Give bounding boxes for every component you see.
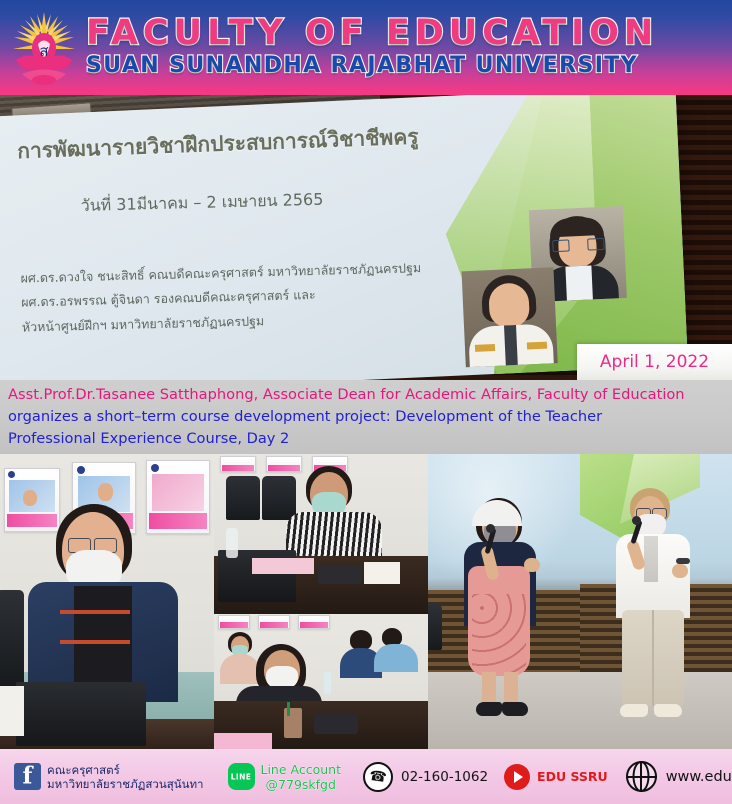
- slide-speakers: ผศ.ดร.ดวงใจ ชนะสิทธิ์ คณบดีคณะครุศาสตร์ …: [20, 253, 522, 339]
- photo-meeting-room-attendees: [214, 614, 428, 749]
- facebook-icon[interactable]: [14, 763, 41, 790]
- header-subtitle: SUAN SUNANDHA RAJABHAT UNIVERSITY: [86, 54, 658, 78]
- wall-poster: [146, 460, 210, 534]
- globe-icon[interactable]: [626, 761, 657, 792]
- slide-title-thai: การพัฒนารายวิชาฝึกประสบการณ์วิชาชีพครู: [17, 117, 518, 168]
- line-label: Line Account @779skfgd: [261, 762, 342, 792]
- phone-glyph: ☎: [368, 767, 388, 785]
- wall-poster: [4, 468, 60, 532]
- projection-screen: การพัฒนารายวิชาฝึกประสบการณ์วิชาชีพครู ว…: [0, 95, 688, 380]
- line-account-id: @779skfgd: [261, 777, 342, 792]
- photo-speaker-pink-dress: [428, 454, 580, 749]
- photo-speaker-white-shirt: [580, 454, 732, 749]
- header-title: FACULTY OF EDUCATION: [86, 15, 658, 52]
- page-footer: คณะครุศาสตร์ มหาวิทยาลัยราชภัฏสวนสุนันทา…: [0, 749, 732, 804]
- photo-column-speaker-1: [428, 454, 580, 749]
- globe-arc: [633, 761, 650, 792]
- phone-number: 02-160-1062: [401, 769, 488, 785]
- line-account-label: Line Account: [261, 762, 342, 777]
- caption-block: Asst.Prof.Dr.Tasanee Satthaphong, Associ…: [0, 380, 732, 454]
- slide-portrait-man: [462, 267, 558, 367]
- footer-phone[interactable]: ☎ 02-160-1062: [341, 762, 488, 792]
- slide-text-block: การพัฒนารายวิชาฝึกประสบการณ์วิชาชีพครู ว…: [17, 120, 522, 340]
- phone-icon[interactable]: ☎: [363, 762, 393, 792]
- footer-website[interactable]: www.edu.ssru.ac.th: [608, 761, 732, 792]
- line-icon-label: LINE: [231, 772, 252, 781]
- date-badge: April 1, 2022: [577, 344, 732, 380]
- facebook-label: คณะครุศาสตร์ มหาวิทยาลัยราชภัฏสวนสุนันทา: [47, 763, 204, 791]
- photo-woman-striped-blouse-laptop: [214, 454, 428, 614]
- photo-column-middle: [214, 454, 428, 749]
- facebook-label-line-1: คณะครุศาสตร์: [47, 763, 204, 777]
- caption-line-2: organizes a short–term course developmen…: [8, 406, 724, 428]
- slide-date-thai: วันที่ 31มีนาคม – 2 เมษายน 2565: [80, 183, 519, 219]
- ssru-royal-emblem-icon: ส: [8, 6, 80, 90]
- photo-column-speaker-2: [580, 454, 732, 749]
- svg-text:ส: ส: [39, 42, 48, 60]
- footer-line[interactable]: LINE Line Account @779skfgd: [204, 762, 342, 792]
- line-icon[interactable]: LINE: [228, 763, 255, 790]
- date-badge-text: April 1, 2022: [600, 352, 709, 372]
- caption-line-1: Asst.Prof.Dr.Tasanee Satthaphong, Associ…: [8, 384, 724, 406]
- page-header: ส FACULTY OF EDUCATION SUAN SUNANDHA RAJ…: [0, 0, 732, 95]
- facebook-label-line-2: มหาวิทยาลัยราชภัฏสวนสุนันทา: [47, 777, 204, 791]
- website-url: www.edu.ssru.ac.th: [666, 769, 732, 785]
- youtube-channel: EDU SSRU: [537, 769, 608, 784]
- footer-facebook[interactable]: คณะครุศาสตร์ มหาวิทยาลัยราชภัฏสวนสุนันทา: [14, 763, 204, 791]
- hero-photo-projected-slide: การพัฒนารายวิชาฝึกประสบการณ์วิชาชีพครู ว…: [0, 95, 732, 380]
- caption-line-3: Professional Experience Course, Day 2: [8, 428, 724, 450]
- youtube-icon[interactable]: [504, 764, 530, 790]
- photo-woman-at-meeting-desk: [0, 454, 214, 749]
- photo-column-left: [0, 454, 214, 749]
- photo-grid: [0, 454, 732, 749]
- footer-youtube[interactable]: EDU SSRU: [488, 764, 608, 790]
